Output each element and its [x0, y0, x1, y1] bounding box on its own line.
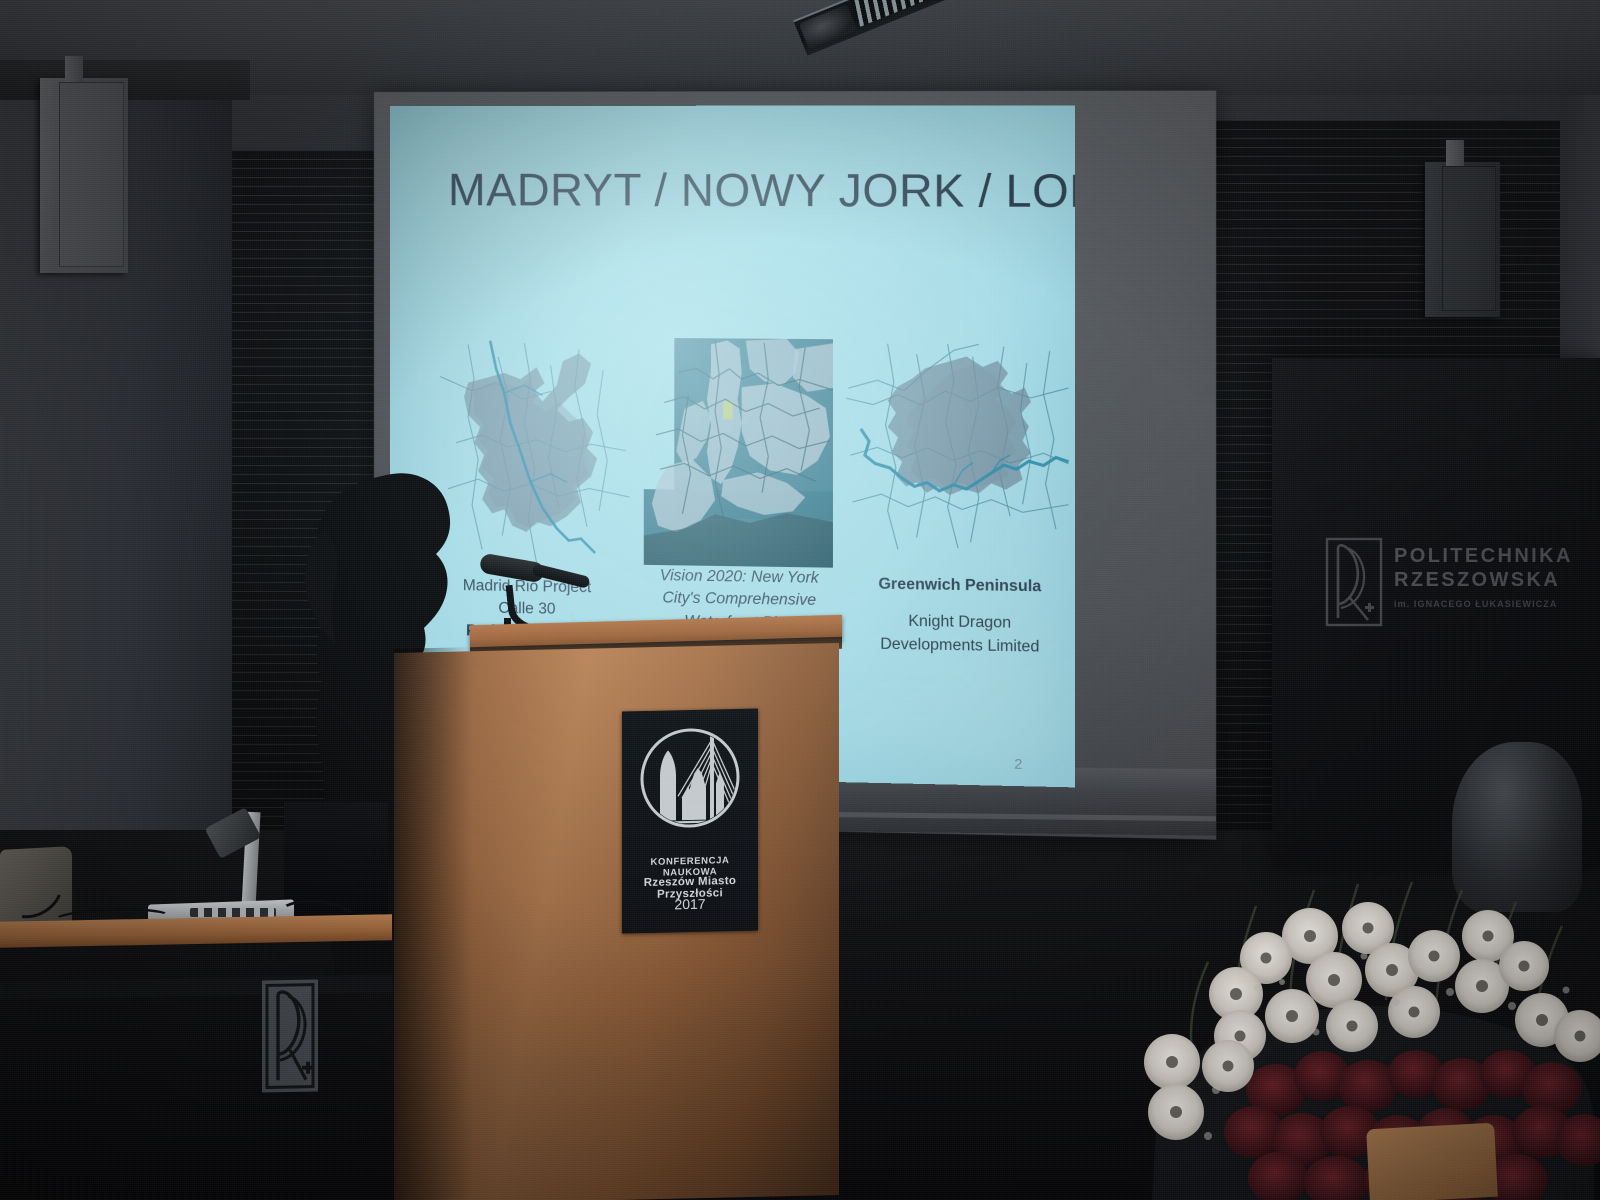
caption-london-line2: Developments Limited	[848, 633, 1071, 660]
banner-line-3: im. IGNACEGO ŁUKASIEWICZA	[1394, 599, 1599, 609]
chair-right	[1366, 1123, 1498, 1200]
caption-london: Greenwich Peninsula Knight Dragon Develo…	[848, 573, 1071, 660]
slide-page-number: 2	[1014, 755, 1022, 772]
caption-london-head: Greenwich Peninsula	[848, 573, 1071, 599]
conference-photo-scene: MADRYT / NOWY JORK / LONDYN	[0, 0, 1600, 1200]
slide-title: MADRYT / NOWY JORK / LONDYN	[448, 164, 1041, 218]
wall-loudspeaker-icon	[40, 78, 128, 273]
sign-line-3: 2017	[622, 894, 758, 913]
podium-shadow	[394, 647, 472, 1200]
wall-loudspeaker-icon	[1425, 162, 1500, 317]
document-camera-icon	[212, 812, 270, 908]
city-skyline-bridge-circle-icon	[638, 723, 742, 845]
banner-line-2: RZESZOWSKA	[1394, 568, 1599, 592]
conference-sign: KONFERENCJA NAUKOWA Rzeszów Miasto Przys…	[622, 708, 758, 933]
caption-new-york-line2: City's Comprehensive	[635, 587, 845, 613]
banner-line-1: POLITECHNIKA	[1394, 544, 1599, 568]
pr-monogram-icon	[1324, 536, 1384, 628]
caption-new-york-line1: Vision 2020: New York	[635, 565, 845, 591]
map-london	[846, 341, 1069, 553]
pr-monogram-icon	[262, 979, 318, 1092]
document-camera-ports	[190, 908, 276, 917]
map-new-york	[644, 338, 833, 568]
flower-arrangement-icon	[1096, 840, 1600, 1200]
